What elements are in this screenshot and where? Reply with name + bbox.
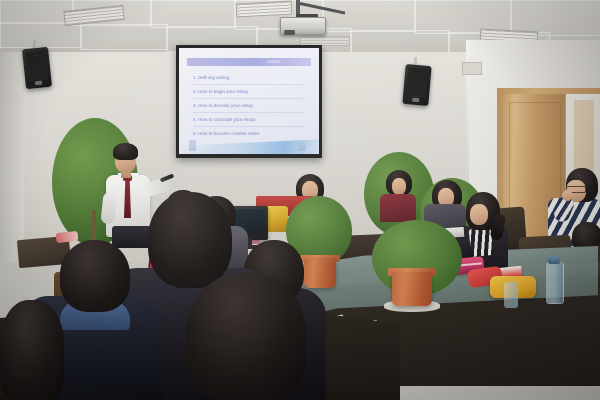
slide-title: Outline <box>241 58 307 66</box>
slide-separator <box>193 98 305 99</box>
water-bottle[interactable] <box>546 262 564 304</box>
projection-screen-frame: Outline 1. Defining writing 2. How to be… <box>176 45 322 158</box>
speaker-icon <box>22 47 52 89</box>
projector-lens <box>284 30 295 35</box>
projection-screen: Outline 1. Defining writing 2. How to be… <box>179 48 319 154</box>
ceiling-tile <box>0 22 82 48</box>
bottle-cap <box>548 256 560 264</box>
slide-list-item: 2. How to begin your essay <box>193 86 305 97</box>
foreground-person-head <box>60 240 130 312</box>
foreground-person-head <box>186 272 306 400</box>
speaker-logo <box>412 98 419 103</box>
slide-separator <box>193 84 305 85</box>
plant-pot <box>392 272 432 306</box>
left-wall <box>0 52 24 262</box>
person-face <box>470 204 488 225</box>
speaker-grille <box>25 50 48 81</box>
foreground-person-head <box>0 300 64 400</box>
photo-scene: Outline 1. Defining writing 2. How to be… <box>0 0 600 400</box>
ceiling-tile <box>80 24 168 50</box>
slide-list-item: 3. How to develop your essay <box>193 100 305 111</box>
slide-separator <box>193 112 305 113</box>
air-vent <box>236 1 293 18</box>
slide-separator <box>193 126 305 127</box>
slide-deco-icon <box>189 140 196 151</box>
person-face <box>392 178 406 195</box>
presenter-trousers <box>112 226 152 248</box>
person-hand <box>562 190 573 201</box>
speaker-logo <box>35 81 42 86</box>
wall-sign <box>462 62 482 75</box>
plant-pot <box>304 258 336 288</box>
slide-deco-icon <box>299 140 306 151</box>
slide-list-item: 1. Defining writing <box>193 72 305 83</box>
water-bottle-small[interactable] <box>504 282 518 308</box>
person-body <box>380 194 416 222</box>
foreground-person-head <box>148 192 232 288</box>
speaker-grille <box>406 67 428 98</box>
scene-caption: Classroom writing workshop presentation <box>450 389 596 398</box>
slide-list-item: 5. How to become a better writer <box>193 128 305 139</box>
slide-list-item: 4. How to conclude your essay <box>193 114 305 125</box>
speaker-icon <box>402 64 431 106</box>
presenter-hair <box>113 143 138 160</box>
